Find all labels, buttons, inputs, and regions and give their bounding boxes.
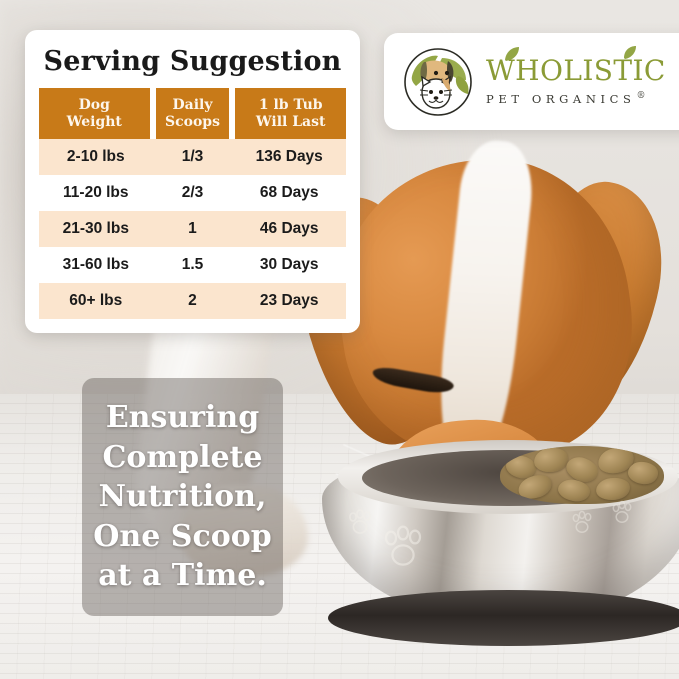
header-line-2: Will Last xyxy=(256,114,326,130)
cell-tub-duration: 136 Days xyxy=(232,139,346,175)
cell-daily-scoops: 2 xyxy=(153,283,233,319)
cell-daily-scoops: 1/3 xyxy=(153,139,233,175)
bowl-rubber-base xyxy=(328,590,679,646)
header-line-1: Daily xyxy=(172,97,212,113)
kibble-pile xyxy=(500,446,664,504)
column-header-daily-scoops: Daily Scoops xyxy=(153,88,233,139)
table-row: 60+ lbs 2 23 Days xyxy=(39,283,346,319)
header-line-2: Weight xyxy=(67,114,122,130)
brand-tagline-text: PET ORGANICS xyxy=(486,92,636,106)
registered-trademark-icon: ® xyxy=(637,91,646,101)
header-line-1: 1 lb Tub xyxy=(259,97,323,113)
brand-logo-card: WHOLISTIC PET ORGANICS® xyxy=(384,33,679,130)
cell-dog-weight: 21-30 lbs xyxy=(39,211,153,247)
cell-dog-weight: 2-10 lbs xyxy=(39,139,153,175)
table-row: 31-60 lbs 1.5 30 Days xyxy=(39,247,346,283)
cell-daily-scoops: 1 xyxy=(153,211,233,247)
infographic-canvas: Serving Suggestion Dog Weight Daily Scoo… xyxy=(0,0,679,679)
serving-table: Dog Weight Daily Scoops 1 lb Tub Will La… xyxy=(39,88,346,319)
leaf-icon xyxy=(503,46,521,62)
dog-cat-circle-logo-icon xyxy=(402,46,474,118)
paw-print-icon xyxy=(380,524,436,572)
tagline-line: One Scoop xyxy=(93,517,271,557)
header-line-2: Scoops xyxy=(165,114,220,130)
cell-daily-scoops: 2/3 xyxy=(153,175,233,211)
tagline-line: Ensuring xyxy=(106,398,259,438)
column-header-tub-duration: 1 lb Tub Will Last xyxy=(232,88,346,139)
leaf-icon xyxy=(622,45,638,60)
paw-print-icon xyxy=(570,510,600,536)
brand-wordmark-block: WHOLISTIC PET ORGANICS® xyxy=(486,57,666,105)
cell-tub-duration: 46 Days xyxy=(232,211,346,247)
table-row: 21-30 lbs 1 46 Days xyxy=(39,211,346,247)
dog-food-bowl xyxy=(322,440,679,658)
kibble-piece xyxy=(532,446,569,474)
cell-tub-duration: 30 Days xyxy=(232,247,346,283)
marketing-tagline-overlay: Ensuring Complete Nutrition, One Scoop a… xyxy=(82,378,283,616)
cell-dog-weight: 11-20 lbs xyxy=(39,175,153,211)
cell-dog-weight: 60+ lbs xyxy=(39,283,153,319)
table-header-row: Dog Weight Daily Scoops 1 lb Tub Will La… xyxy=(39,88,346,139)
tagline-line: Complete xyxy=(102,438,262,478)
cell-tub-duration: 68 Days xyxy=(232,175,346,211)
serving-suggestion-card: Serving Suggestion Dog Weight Daily Scoo… xyxy=(25,30,360,333)
tagline-line: Nutrition, xyxy=(99,477,267,517)
paw-print-icon xyxy=(610,500,640,526)
kibble-piece xyxy=(595,476,631,501)
header-line-1: Dog xyxy=(79,97,110,113)
cell-tub-duration: 23 Days xyxy=(232,283,346,319)
cell-dog-weight: 31-60 lbs xyxy=(39,247,153,283)
table-row: 11-20 lbs 2/3 68 Days xyxy=(39,175,346,211)
table-row: 2-10 lbs 1/3 136 Days xyxy=(39,139,346,175)
tagline-line: at a Time. xyxy=(98,556,267,596)
kibble-piece xyxy=(627,460,659,485)
page-title: Serving Suggestion xyxy=(39,42,346,88)
brand-tagline: PET ORGANICS® xyxy=(486,92,666,105)
cell-daily-scoops: 1.5 xyxy=(153,247,233,283)
column-header-dog-weight: Dog Weight xyxy=(39,88,153,139)
paw-print-icon xyxy=(346,508,380,538)
brand-name: WHOLISTIC xyxy=(486,57,666,85)
